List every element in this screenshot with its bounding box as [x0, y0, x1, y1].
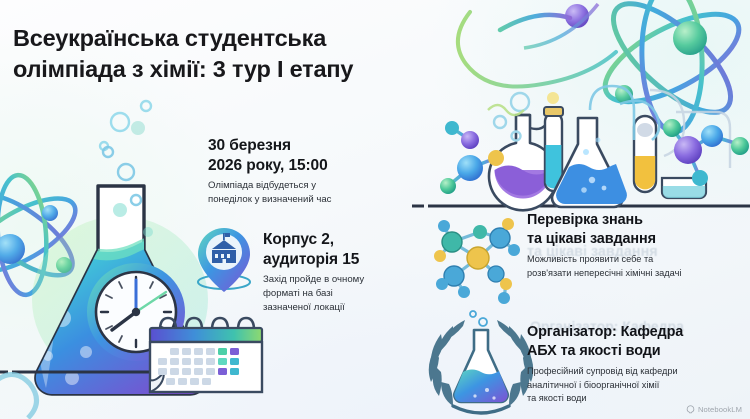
section-place: Корпус 2, аудиторія 15 Захід пройде в оч… — [263, 230, 398, 315]
date-sub-line-1: Олімпіада відбудеться у — [208, 179, 393, 193]
quiz-sub-line-1: Можливість проявити себе та — [527, 253, 749, 266]
organizer-heading-line-1: Організатор: Кафедра — [527, 323, 750, 342]
section-date: 30 березня 2026 року, 15:00 Олімпіада ві… — [208, 136, 393, 207]
page-title: Всеукраїнська студентська олімпіада з хі… — [13, 23, 443, 86]
section-organizer: Організатор: Кафедра АБХ та якості води … — [527, 323, 750, 405]
place-heading-line-2: аудиторія 15 — [263, 250, 398, 270]
title-line-2: олімпіада з хімії: 3 тур I етапу — [13, 54, 443, 85]
analog-clock-illustration — [91, 267, 181, 357]
date-heading-line-1: 30 березня — [208, 136, 393, 156]
atom-orbital-illustration — [0, 173, 86, 296]
notebooklm-icon — [686, 405, 695, 414]
date-sub-line-2: понеділок у визначений час — [208, 193, 393, 207]
place-sub-line-1: Захід пройде в очному — [263, 273, 398, 287]
laurel-flask-icon — [429, 311, 534, 413]
molecule-network-icon — [434, 218, 520, 304]
molecule-chain-illustration — [440, 121, 504, 194]
date-heading-line-2: 2026 року, 15:00 — [208, 156, 393, 176]
watermark-label: NotebookLM — [698, 405, 742, 414]
quiz-sub-line-2: розв'язати непересічні хімічні задачі — [527, 267, 749, 280]
watermark: NotebookLM — [686, 405, 742, 414]
place-sub-line-3: зазначеної локації — [263, 301, 398, 315]
quiz-heading-line-1: Перевірка знань — [527, 211, 749, 230]
organizer-heading-line-2: АБХ та якості води — [527, 342, 750, 361]
organizer-sub-line-3: та якості води — [527, 392, 750, 405]
quiz-heading-line-2: та цікаві завдання — [527, 230, 749, 249]
place-sub-line-2: форматі на базі — [263, 287, 398, 301]
lab-glassware-illustration — [412, 86, 750, 210]
map-pin-building-icon — [198, 228, 250, 292]
swoosh-decoration — [0, 374, 37, 418]
atom-orbital-illustration — [458, 0, 750, 133]
bubbles-decoration — [100, 101, 151, 150]
molecule-chain-illustration — [663, 119, 749, 186]
desk-calendar-illustration — [150, 318, 262, 392]
organizer-sub-line-1: Професійний супровід від кафедри — [527, 365, 750, 378]
place-heading-line-1: Корпус 2, — [263, 230, 398, 250]
title-line-1: Всеукраїнська студентська — [13, 23, 443, 54]
section-quiz: Перевірка знань та цікаві завдання Можли… — [527, 211, 749, 280]
organizer-sub-line-2: аналітичної і біоорганічної хімії — [527, 379, 750, 392]
infographic-poster: та цікаві завдання Організатор: Кафедра … — [0, 0, 750, 419]
